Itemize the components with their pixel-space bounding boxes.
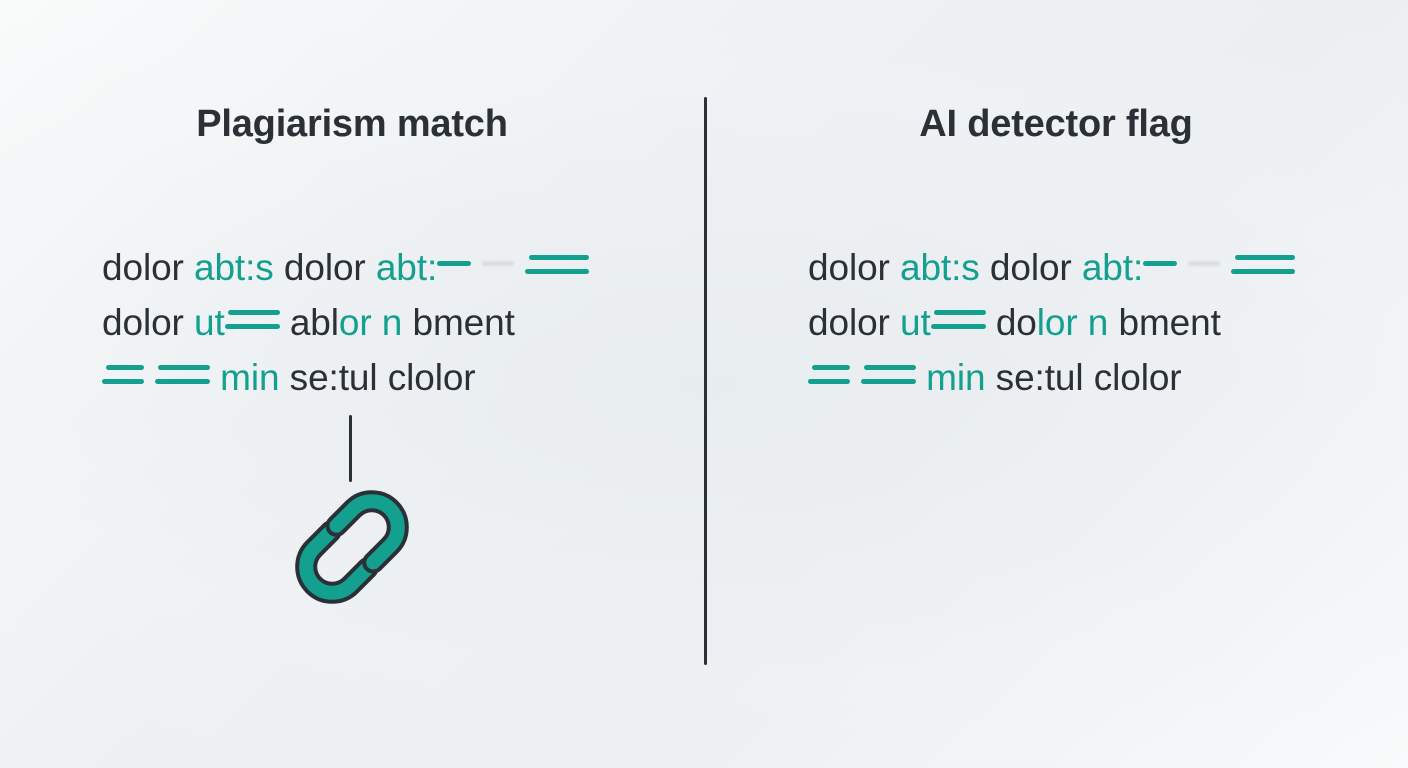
- text-line: dolor abt:s dolor abt:: [102, 240, 806, 295]
- text-token: dolor: [102, 247, 194, 288]
- text-token: abt:s: [194, 247, 274, 288]
- text-token: n: [1078, 302, 1109, 343]
- text-token: abt:: [376, 247, 437, 288]
- text-line: min se:tul clolor: [808, 350, 1408, 405]
- text-token: min: [210, 357, 280, 398]
- redaction-equals-bar: [225, 310, 280, 332]
- text-token: ut: [194, 302, 225, 343]
- page-title-plagiarism-match: Plagiarism match: [0, 103, 704, 146]
- text-token: abl: [280, 302, 339, 343]
- redaction-equals-bar: [102, 365, 144, 387]
- text-line: min se:tul clolor: [102, 350, 806, 405]
- redaction-dash-gray: [1188, 261, 1220, 266]
- redaction-dash: [437, 261, 471, 266]
- text-line: dolor ut ablor n bment: [102, 295, 806, 350]
- text-line: dolor ut dolor n bment: [808, 295, 1408, 350]
- connector-stem: [349, 415, 352, 482]
- redaction-equals-bar: [525, 255, 589, 277]
- redacted-text-block-right: dolor abt:s dolor abt: dolor ut dolor n …: [704, 240, 1408, 405]
- redaction-dash: [1143, 261, 1177, 266]
- text-token: dolor: [980, 247, 1082, 288]
- text-line: dolor abt:s dolor abt:: [808, 240, 1408, 295]
- text-token: abt:s: [900, 247, 980, 288]
- text-token: dolor: [808, 302, 900, 343]
- illustration-canvas: Plagiarism match dolor abt:s dolor abt: …: [0, 0, 1408, 768]
- text-token: do: [986, 302, 1037, 343]
- panel-plagiarism-match: Plagiarism match dolor abt:s dolor abt: …: [0, 0, 704, 768]
- panel-ai-detector-flag: AI detector flag dolor abt:s dolor abt: …: [704, 0, 1408, 768]
- text-token: min: [916, 357, 986, 398]
- text-token: bment: [402, 302, 515, 343]
- chain-link-icon: [290, 487, 414, 607]
- text-token: dolor: [102, 302, 194, 343]
- text-token: n: [372, 302, 403, 343]
- text-token: abt:: [1082, 247, 1143, 288]
- page-title-ai-detector-flag: AI detector flag: [704, 103, 1408, 146]
- text-token: bment: [1108, 302, 1221, 343]
- redaction-equals-bar: [808, 365, 850, 387]
- text-token: se:tul clolor: [280, 357, 476, 398]
- redaction-equals-bar: [931, 310, 986, 332]
- text-token: dolor: [808, 247, 900, 288]
- text-token: lor: [1037, 302, 1078, 343]
- redaction-dash-gray: [482, 261, 514, 266]
- redacted-text-block-left: dolor abt:s dolor abt: dolor ut ablor n …: [0, 240, 806, 405]
- text-token: ut: [900, 302, 931, 343]
- redaction-equals-bar: [1231, 255, 1295, 277]
- redaction-equals-bar: [861, 365, 916, 387]
- text-token: se:tul clolor: [986, 357, 1182, 398]
- text-token: or: [339, 302, 372, 343]
- text-token: dolor: [274, 247, 376, 288]
- redaction-equals-bar: [155, 365, 210, 387]
